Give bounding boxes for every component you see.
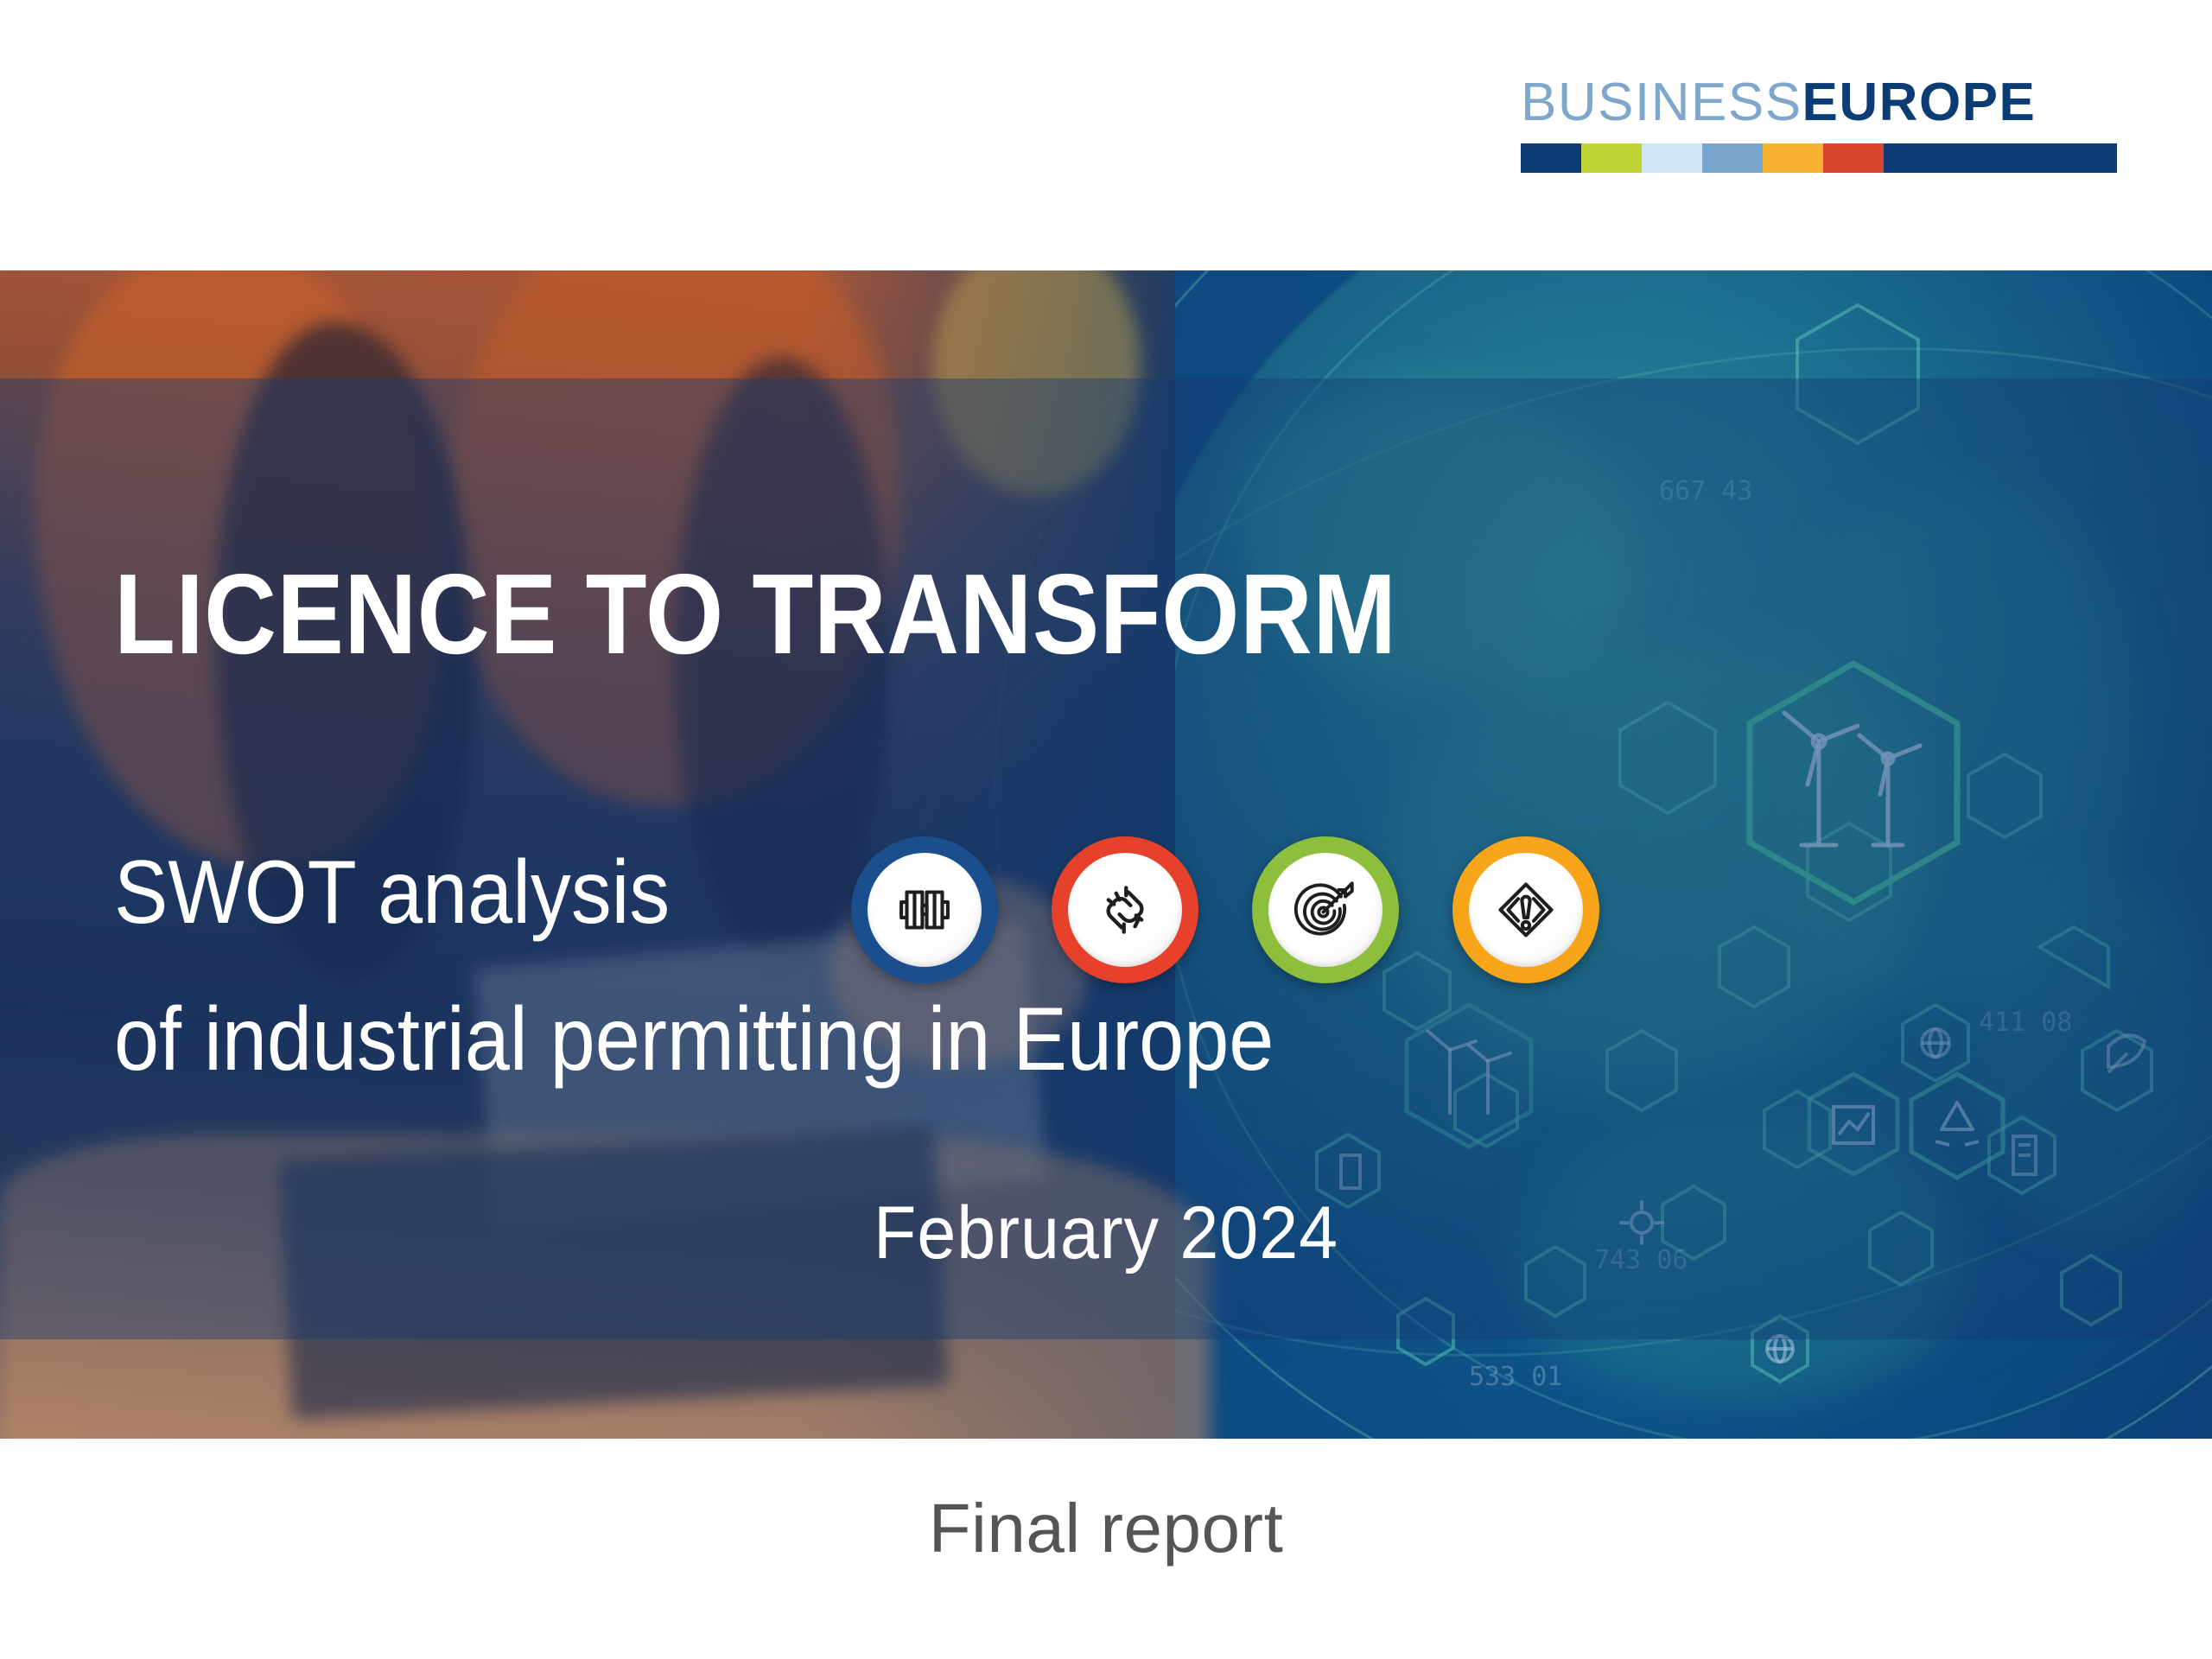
logo-bar-swatch-red	[1823, 143, 1884, 173]
logo-bar-swatch-navy	[1521, 143, 1581, 173]
swot-badge-inner	[1469, 853, 1583, 967]
warning-diamond-icon	[1491, 874, 1561, 945]
logo-bar-swatch-navy-long	[1884, 143, 2117, 173]
banner-subtitle-line2: of industrial permitting in Europe	[114, 995, 1274, 1084]
swot-badge-opportunities	[1252, 836, 1399, 983]
logo-text-business: BUSINESS	[1521, 73, 1802, 132]
logo-bar-swatch-paleblue	[1642, 143, 1702, 173]
target-arrow-icon	[1290, 874, 1361, 945]
swot-badge-threats	[1452, 836, 1599, 983]
logo-bar-swatch-midblue	[1702, 143, 1763, 173]
swot-badge-strengths	[851, 836, 998, 983]
swot-badge-inner	[1068, 853, 1182, 967]
businesseurope-logo: BUSINESSEUROPE	[1521, 76, 2117, 173]
dumbbell-icon	[889, 874, 960, 945]
logo-text-europe: EUROPE	[1802, 73, 2037, 132]
final-report-label: Final report	[0, 1489, 2212, 1568]
broken-chain-icon	[1090, 874, 1160, 945]
logo-bar-swatch-lime	[1581, 143, 1642, 173]
swot-badge-inner	[1268, 853, 1382, 967]
hero-banner: 667 43 743 06 411 08 533 01 LICENCE TO T…	[0, 270, 2212, 1439]
page-footer: Final report	[0, 1439, 2212, 1659]
banner-date: February 2024	[67, 1191, 2145, 1276]
page-header: BUSINESSEUROPE	[0, 0, 2212, 270]
banner-main-title: LICENCE TO TRANSFORM	[114, 557, 1396, 671]
logo-color-bar	[1521, 143, 2117, 173]
logo-bar-swatch-amber	[1763, 143, 1823, 173]
swot-badge-inner	[868, 853, 982, 967]
logo-wordmark: BUSINESSEUROPE	[1521, 76, 2117, 130]
banner-subtitle-line1: SWOT analysis	[114, 848, 670, 938]
banner-text-layer: LICENCE TO TRANSFORM SWOT analysis of in…	[0, 270, 2212, 1439]
swot-badge-weaknesses	[1052, 836, 1198, 983]
swot-badge-row	[851, 836, 1599, 983]
